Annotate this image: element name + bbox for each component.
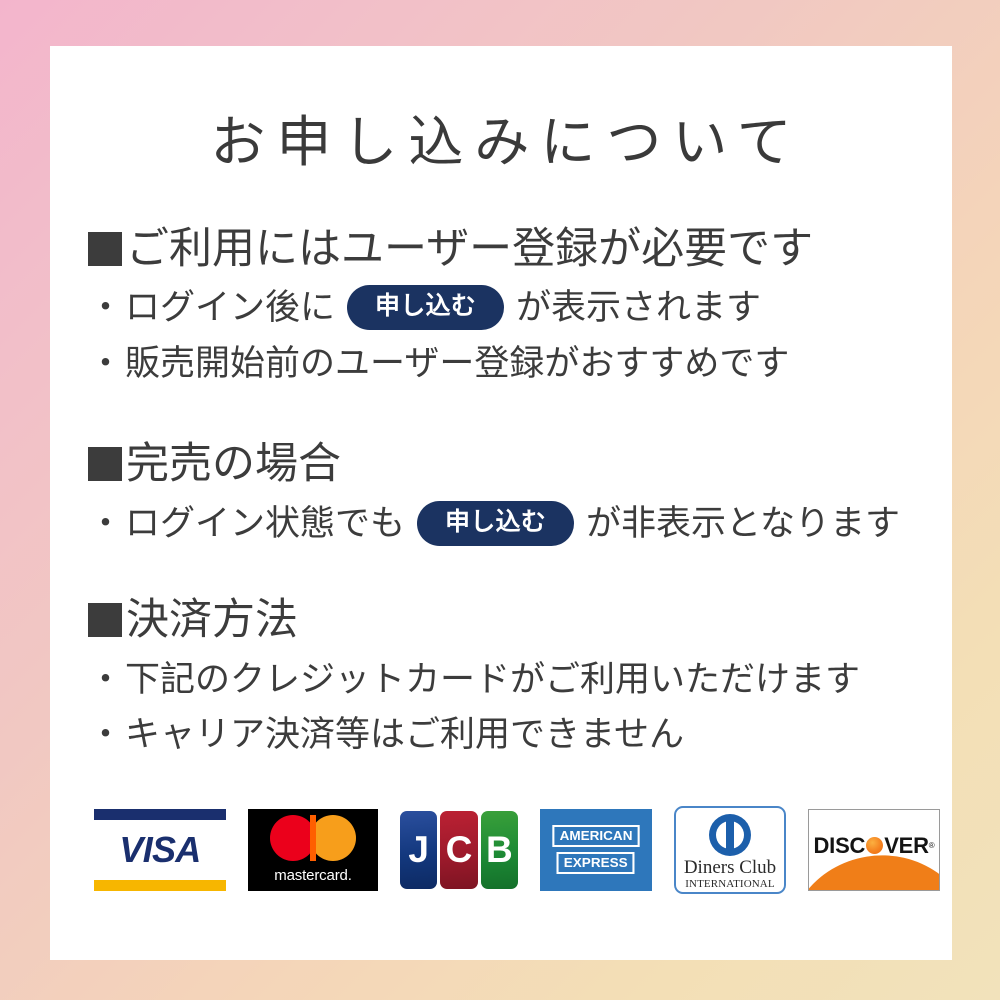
amex-logo: AMERICAN EXPRESS [540, 809, 652, 891]
apply-button[interactable]: 申し込む [417, 501, 574, 546]
mastercard-circles-icon [270, 815, 356, 861]
diners-club-sub: INTERNATIONAL [685, 878, 774, 890]
jcb-letter-j: J [400, 811, 437, 889]
diners-club-mark-icon [709, 814, 751, 856]
card-inner: お申し込みについて ご利用にはユーザー登録が必要です ・ ログイン後に 申し込む… [50, 46, 952, 960]
bullet-item: ・ 販売開始前のユーザー登録がおすすめです [88, 341, 914, 387]
bullet-dot-icon: ・ [88, 712, 123, 758]
bullet-text-after: が非表示となります [586, 501, 900, 547]
bullet-dot-icon: ・ [88, 501, 123, 547]
jcb-logo: J C B [400, 809, 518, 891]
diners-club-logo: Diners Club INTERNATIONAL [674, 806, 786, 894]
square-marker-icon [88, 447, 122, 481]
mastercard-logo: mastercard. [248, 809, 378, 891]
content-card: お申し込みについて ご利用にはユーザー登録が必要です ・ ログイン後に 申し込む… [50, 46, 952, 960]
bullet-text-before: 販売開始前のユーザー登録がおすすめです [125, 341, 789, 387]
section-heading-label: 完売の場合 [126, 438, 341, 490]
accepted-card-brands: VISA mastercard. J C B [88, 806, 914, 894]
discover-part-1: DISC [814, 833, 866, 859]
section-payment-methods: 決済方法 ・ 下記のクレジットカードがご利用いただけます ・ キャリア決済等はご… [88, 594, 914, 893]
visa-bottom-bar [94, 880, 226, 891]
section-heading: ご利用にはユーザー登録が必要です [88, 223, 914, 275]
bullet-item: ・ ログイン後に 申し込む が表示されます [88, 285, 914, 331]
bullet-text-before: ログイン状態でも [125, 501, 405, 547]
mastercard-wordmark: mastercard. [274, 867, 352, 884]
bullet-text-before: 下記のクレジットカードがご利用いただけます [125, 657, 860, 703]
visa-logo: VISA [94, 809, 226, 891]
visa-top-bar [94, 809, 226, 820]
bullet-text-before: ログイン後に [125, 285, 335, 331]
section-user-registration: ご利用にはユーザー登録が必要です ・ ログイン後に 申し込む が表示されます ・… [88, 223, 914, 386]
amex-line-2: EXPRESS [557, 852, 635, 874]
bullet-item: ・ ログイン状態でも 申し込む が非表示となります [88, 501, 914, 547]
bullet-dot-icon: ・ [88, 285, 123, 331]
bullet-dot-icon: ・ [88, 657, 123, 703]
bullet-text-before: キャリア決済等はご利用できません [125, 712, 684, 758]
square-marker-icon [88, 232, 122, 266]
amex-line-1: AMERICAN [552, 825, 639, 847]
diners-club-name: Diners Club [684, 858, 776, 878]
discover-part-2: VER [884, 833, 929, 859]
jcb-letter-b: B [481, 811, 518, 889]
bullet-dot-icon: ・ [88, 341, 123, 387]
discover-orange-ball-icon [866, 837, 883, 854]
visa-wordmark: VISA [94, 820, 226, 880]
discover-registered-mark: ® [929, 841, 935, 850]
bullet-item: ・ 下記のクレジットカードがご利用いただけます [88, 657, 914, 703]
square-marker-icon [88, 603, 122, 637]
section-heading: 完売の場合 [88, 438, 914, 490]
discover-wordmark: DISC VER ® [814, 833, 935, 859]
section-heading-label: 決済方法 [126, 594, 298, 646]
section-heading: 決済方法 [88, 594, 914, 646]
mastercard-orange-circle [310, 815, 356, 861]
discover-logo: DISC VER ® [808, 809, 940, 891]
apply-button[interactable]: 申し込む [347, 285, 504, 330]
section-heading-label: ご利用にはユーザー登録が必要です [126, 223, 813, 275]
page-title: お申し込みについて [88, 108, 914, 177]
section-sold-out: 完売の場合 ・ ログイン状態でも 申し込む が非表示となります [88, 438, 914, 546]
bullet-text-after: が表示されます [516, 285, 761, 331]
bullet-item: ・ キャリア決済等はご利用できません [88, 712, 914, 758]
mastercard-overlap [310, 815, 316, 861]
jcb-letter-c: C [440, 811, 477, 889]
